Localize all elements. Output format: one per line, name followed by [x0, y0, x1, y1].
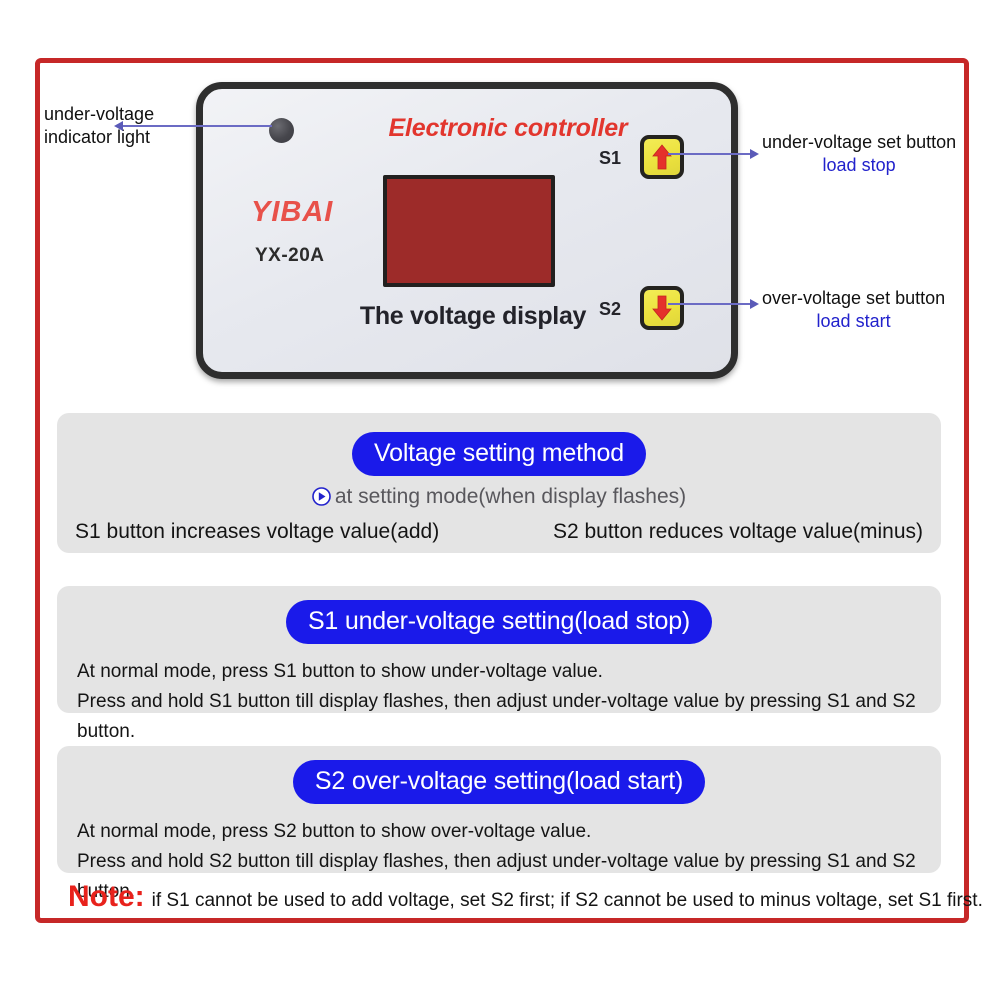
- panel-2-pill-wrap: S1 under-voltage setting(load stop): [57, 600, 941, 644]
- arrow-up-icon: [652, 144, 672, 170]
- callout-over-voltage-sub: load start: [762, 310, 945, 333]
- controller-device: Electronic controller YIBAI YX-20A The v…: [196, 82, 738, 379]
- arrowhead-over-voltage-icon: [750, 299, 759, 309]
- arrow-down-icon: [652, 295, 672, 321]
- callout-indicator-line2: indicator light: [44, 127, 150, 147]
- panel-3-pill-wrap: S2 over-voltage setting(load start): [57, 760, 941, 804]
- note-text: if S1 cannot be used to add voltage, set…: [152, 890, 983, 912]
- callout-over-voltage-main: over-voltage set button: [762, 288, 945, 308]
- panel-2-line2: Press and hold S1 button till display fl…: [77, 687, 921, 747]
- panel-1-columns: S1 button increases voltage value(add) S…: [57, 520, 941, 544]
- page-root: Electronic controller YIBAI YX-20A The v…: [0, 0, 1000, 1000]
- panel-s1-under-voltage-setting: S1 under-voltage setting(load stop) At n…: [57, 586, 941, 713]
- leader-line-under-voltage: [668, 153, 756, 155]
- panel-3-heading-pill: S2 over-voltage setting(load start): [293, 760, 705, 804]
- panel-1-subline: at setting mode(when display flashes): [57, 485, 941, 512]
- panel-3-line1: At normal mode, press S2 button to show …: [77, 817, 921, 847]
- callout-over-voltage-button: over-voltage set button load start: [762, 287, 945, 333]
- note-label: Note:: [68, 880, 145, 914]
- panel-1-col-right: S2 button reduces voltage value(minus): [553, 520, 923, 544]
- s1-button[interactable]: [640, 135, 684, 179]
- play-circle-icon: [312, 487, 331, 512]
- callout-under-voltage-main: under-voltage set button: [762, 132, 956, 152]
- s2-button[interactable]: [640, 286, 684, 330]
- panel-voltage-setting-method: Voltage setting method at setting mode(w…: [57, 413, 941, 553]
- voltage-display-screen: [383, 175, 555, 287]
- panel-1-col-left: S1 button increases voltage value(add): [75, 520, 439, 544]
- device-brand: YIBAI: [251, 196, 333, 229]
- screen-caption: The voltage display: [333, 302, 613, 331]
- key-label-s1: S1: [599, 148, 621, 169]
- device-model: YX-20A: [255, 245, 325, 267]
- callout-under-voltage-sub: load stop: [762, 154, 956, 177]
- callout-indicator-line1: under-voltage: [44, 104, 154, 124]
- leader-line-over-voltage: [668, 303, 756, 305]
- panel-1-heading-pill: Voltage setting method: [352, 432, 646, 476]
- callout-under-voltage-button: under-voltage set button load stop: [762, 131, 956, 177]
- panel-s2-over-voltage-setting: S2 over-voltage setting(load start) At n…: [57, 746, 941, 873]
- leader-line-indicator: [120, 125, 272, 127]
- panel-2-body: At normal mode, press S1 button to show …: [57, 657, 941, 747]
- note-row: Note: if S1 cannot be used to add voltag…: [68, 880, 983, 914]
- panel-1-subline-text: at setting mode(when display flashes): [335, 485, 686, 508]
- arrowhead-indicator-icon: [114, 121, 123, 131]
- led-indicator-icon: [269, 118, 294, 143]
- arrowhead-under-voltage-icon: [750, 149, 759, 159]
- device-title: Electronic controller: [343, 114, 673, 143]
- panel-2-line1: At normal mode, press S1 button to show …: [77, 657, 921, 687]
- panel-1-pill-wrap: Voltage setting method: [57, 432, 941, 476]
- panel-2-heading-pill: S1 under-voltage setting(load stop): [286, 600, 712, 644]
- key-label-s2: S2: [599, 299, 621, 320]
